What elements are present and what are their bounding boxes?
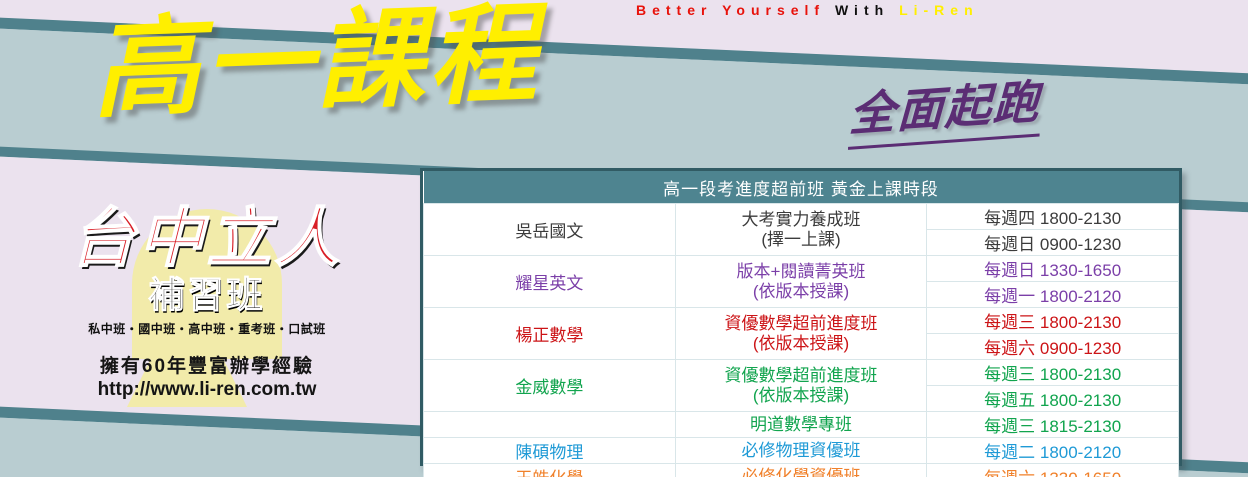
time-slot-cell: 每週一 1800-2120 [927,282,1179,308]
course-cell: 必修化學資優班 [675,464,927,477]
time-slot-cell: 每週三 1800-2130 [927,308,1179,334]
course-line-1: 必修物理資優班 [676,441,927,460]
time-slot-cell: 每週六 1330-1650 [927,464,1179,477]
brand-logo: 台中立人 補習班 私中班・國中班・高中班・重考班・口試班 擁有60年豐富辦學經驗… [22,205,392,420]
course-line-2: (依版本授課) [676,334,927,353]
table-header-title: 高一段考進度超前班 黃金上課時段 [424,171,1179,204]
logo-class-list: 私中班・國中班・高中班・重考班・口試班 [22,320,392,337]
time-slot-cell: 每週三 1800-2130 [927,360,1179,386]
logo-website-url[interactable]: http://www.li-ren.com.tw [22,379,392,401]
course-line-1: 資優數學超前進度班 [676,314,927,333]
page-title: 高一課程 [90,0,542,128]
course-line-2: (依版本授課) [676,282,927,301]
course-cell: 大考實力養成班(擇一上課) [675,204,927,256]
logo-brand-name: 台中立人 [22,205,392,272]
time-slot-cell: 每週日 1330-1650 [927,256,1179,282]
table-body: 吳岳國文大考實力養成班(擇一上課)每週四 1800-2130每週日 0900-1… [424,204,1179,477]
time-slot-cell: 每週五 1800-2130 [927,386,1179,412]
course-cell: 明道數學專班 [675,412,927,438]
logo-experience-text: 擁有60年豐富辦學經驗 [22,351,392,378]
tagline-part-3: Li-Ren [899,2,979,18]
teacher-cell [424,412,676,438]
course-cell: 必修物理資優班 [675,438,927,464]
course-line-1: 明道數學專班 [676,415,927,434]
table-row: 王皓化學必修化學資優班每週六 1330-1650 [424,464,1179,477]
teacher-cell: 耀星英文 [424,256,676,308]
time-slot-cell: 每週日 0900-1230 [927,230,1179,256]
table-row: 陳碩物理必修物理資優班每週二 1800-2120 [424,438,1179,464]
time-slot-cell: 每週四 1800-2130 [927,204,1179,230]
course-line-1: 必修化學資優班 [676,467,927,477]
course-cell: 版本+閱讀菁英班(依版本授課) [675,256,927,308]
course-line-1: 資優數學超前進度班 [676,366,927,385]
table-row: 吳岳國文大考實力養成班(擇一上課)每週四 1800-2130 [424,204,1179,230]
course-line-2: (擇一上課) [676,230,927,249]
teacher-cell: 王皓化學 [424,464,676,477]
schedule-table-container: 高一段考進度超前班 黃金上課時段 吳岳國文大考實力養成班(擇一上課)每週四 18… [420,168,1182,466]
course-line-1: 大考實力養成班 [676,210,927,229]
poster-canvas: Better Yourself With Li-Ren 高一課程 全面起跑 台中… [0,0,1248,477]
tagline: Better Yourself With Li-Ren [636,2,979,18]
time-slot-cell: 每週六 0900-1230 [927,334,1179,360]
teacher-cell: 陳碩物理 [424,438,676,464]
logo-brand-subname: 補習班 [22,266,392,318]
schedule-table: 高一段考進度超前班 黃金上課時段 吳岳國文大考實力養成班(擇一上課)每週四 18… [423,171,1179,477]
tagline-part-2: With [835,2,889,18]
table-row: 耀星英文版本+閱讀菁英班(依版本授課)每週日 1330-1650 [424,256,1179,282]
time-slot-cell: 每週二 1800-2120 [927,438,1179,464]
table-row: 明道數學專班每週三 1815-2130 [424,412,1179,438]
teacher-cell: 吳岳國文 [424,204,676,256]
course-line-1: 版本+閱讀菁英班 [676,262,927,281]
tagline-part-1: Better Yourself [636,2,825,18]
course-line-2: (依版本授課) [676,386,927,405]
table-row: 楊正數學資優數學超前進度班(依版本授課)每週三 1800-2130 [424,308,1179,334]
time-slot-cell: 每週三 1815-2130 [927,412,1179,438]
table-row: 金威數學資優數學超前進度班(依版本授課)每週三 1800-2130 [424,360,1179,386]
course-cell: 資優數學超前進度班(依版本授課) [675,360,927,412]
teacher-cell: 楊正數學 [424,308,676,360]
table-header-row: 高一段考進度超前班 黃金上課時段 [424,171,1179,204]
course-cell: 資優數學超前進度班(依版本授課) [675,308,927,360]
page-subtitle: 全面起跑 [848,65,1042,150]
teacher-cell: 金威數學 [424,360,676,412]
